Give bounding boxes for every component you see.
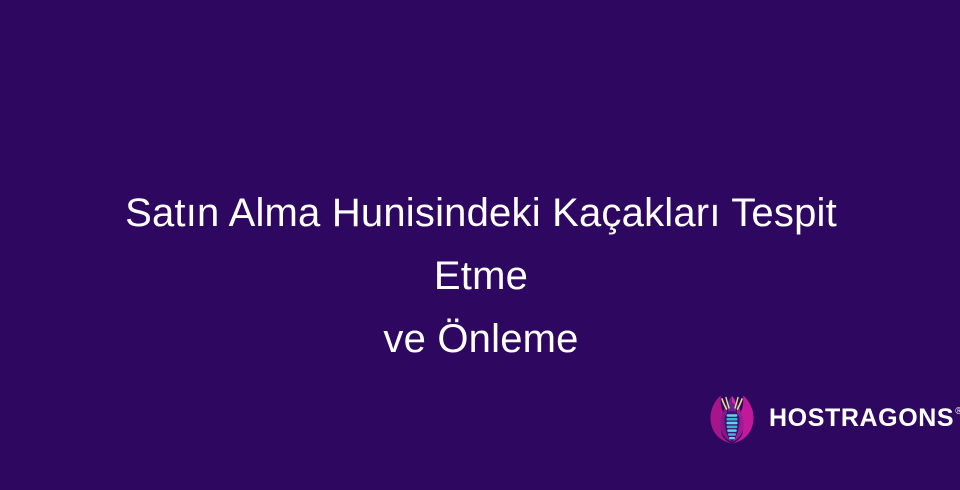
registered-trademark-icon: ® bbox=[955, 406, 960, 417]
title-block: Satın Alma Hunisindeki Kaçakları Tespit … bbox=[78, 182, 884, 371]
brand-wordmark: HOSTRAGONS ® bbox=[769, 405, 960, 431]
brand-lockup: HOSTRAGONS ® bbox=[708, 392, 960, 444]
hostragons-dragon-logo-icon bbox=[708, 392, 756, 444]
page-title: Satın Alma Hunisindeki Kaçakları Tespit … bbox=[78, 182, 884, 371]
brand-name: HOSTRAGONS bbox=[769, 405, 954, 431]
blog-cover-banner: Satın Alma Hunisindeki Kaçakları Tespit … bbox=[0, 0, 960, 490]
